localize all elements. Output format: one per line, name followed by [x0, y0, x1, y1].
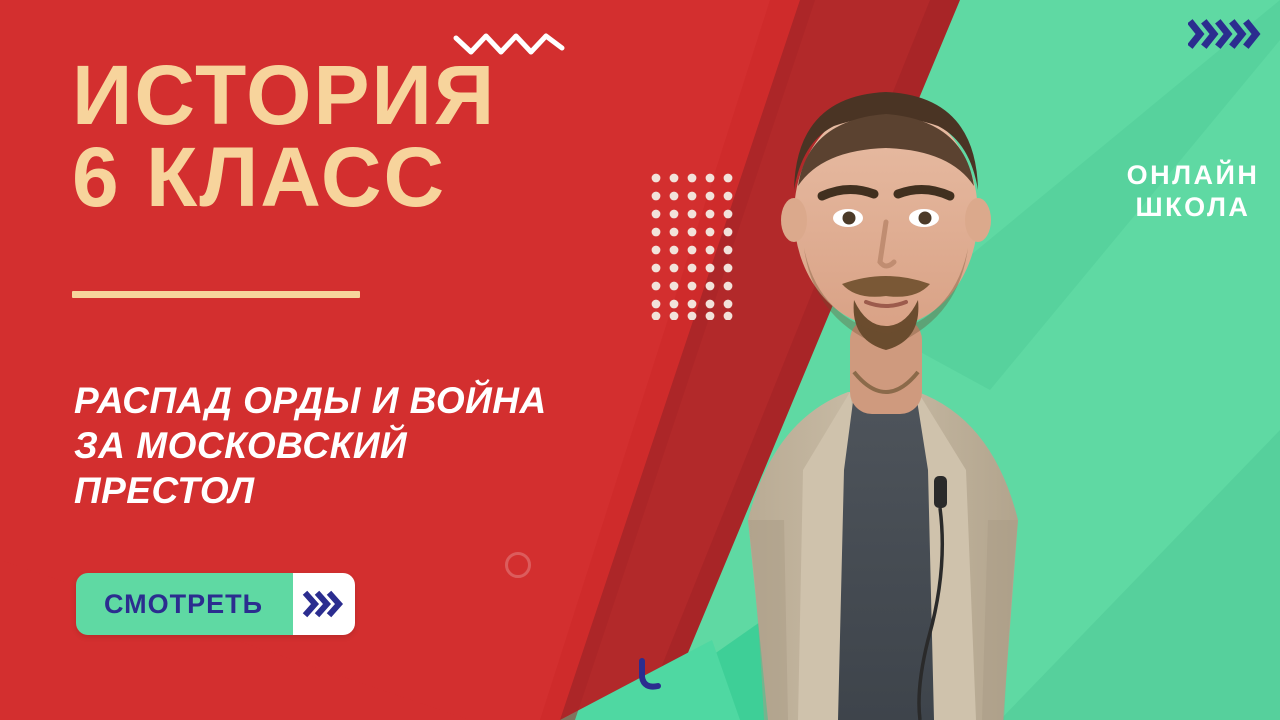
lesson-subtitle: РАСПАД ОРДЫ И ВОЙНА ЗА МОСКОВСКИЙ ПРЕСТО…: [74, 378, 694, 513]
triple-chevron-right-icon[interactable]: [293, 573, 355, 635]
chevron-row-icon: [1188, 17, 1266, 56]
title-underline: [72, 291, 360, 298]
circle-outline-icon: [505, 552, 531, 578]
presenter-photo: [598, 0, 1158, 720]
brand-label: ОНЛАЙН ШКОЛА: [1118, 160, 1268, 224]
watch-button[interactable]: СМОТРЕТЬ: [76, 573, 355, 635]
arc-c-shape-icon: [628, 655, 674, 702]
watch-button-label[interactable]: СМОТРЕТЬ: [76, 573, 293, 635]
thumbnail-canvas: ИСТОРИЯ 6 КЛАСС РАСПАД ОРДЫ И ВОЙНА ЗА М…: [0, 0, 1280, 720]
page-title: ИСТОРИЯ 6 КЛАСС: [72, 54, 672, 219]
